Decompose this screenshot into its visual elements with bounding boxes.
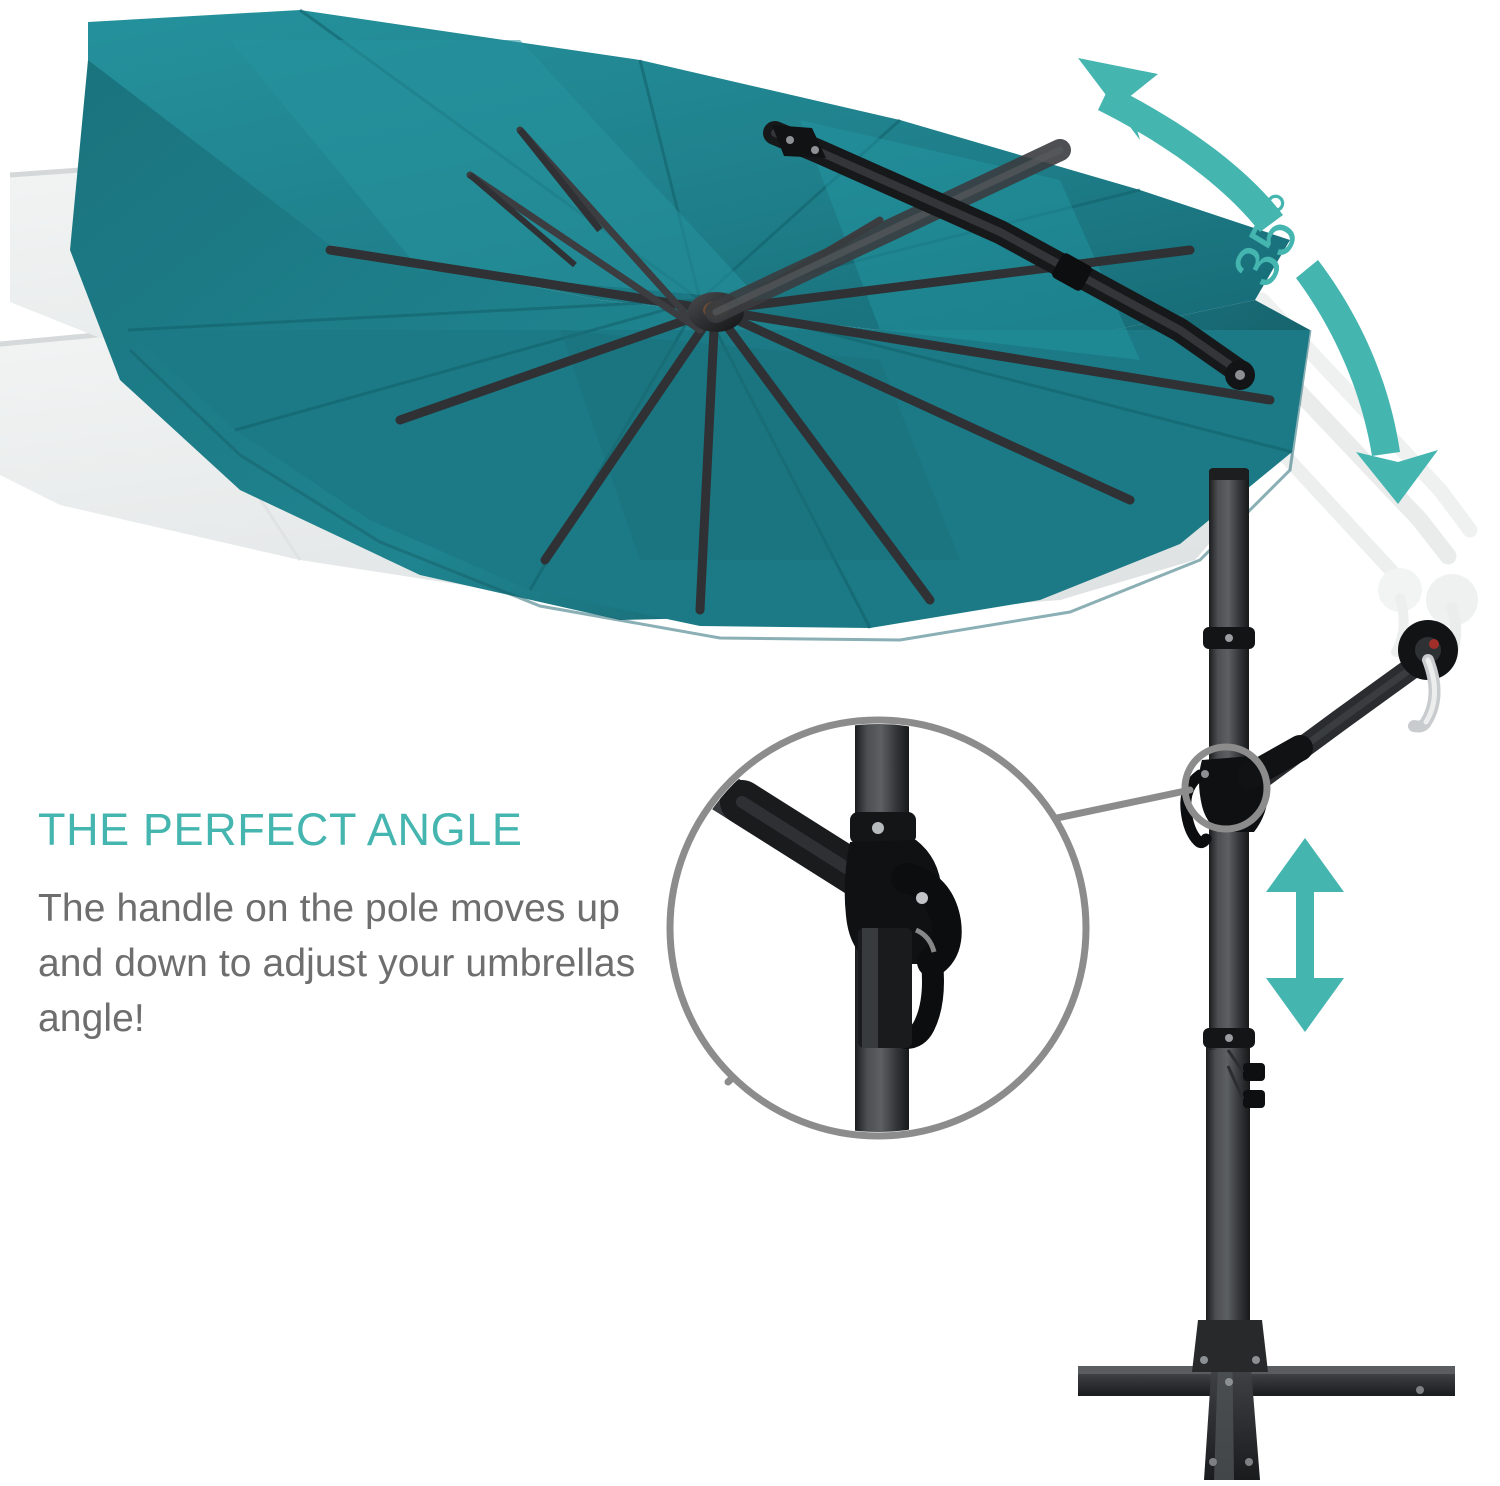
umbrella-pole xyxy=(1203,468,1265,1330)
product-feature-image: 35° THE PERFECT ANGLE The handle on the … xyxy=(0,0,1500,1486)
product-illustration: 35° xyxy=(0,0,1500,1486)
magnifier-callout xyxy=(670,700,1267,1170)
feature-copy-block: THE PERFECT ANGLE The handle on the pole… xyxy=(38,806,678,1046)
umbrella-cross-base xyxy=(1078,1320,1455,1480)
feature-description: The handle on the pole moves up and down… xyxy=(38,881,638,1046)
height-adjust-arrow xyxy=(1266,838,1344,1032)
page-title: THE PERFECT ANGLE xyxy=(38,806,678,853)
